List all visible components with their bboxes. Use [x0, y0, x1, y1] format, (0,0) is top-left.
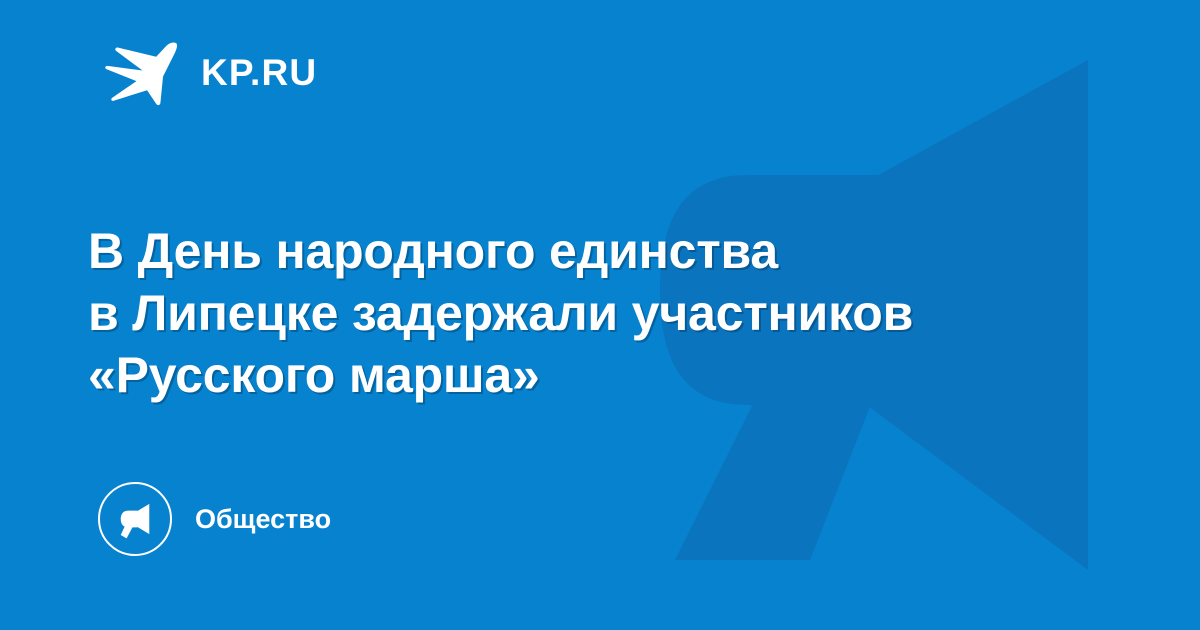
category-badge[interactable]: Общество — [98, 482, 331, 556]
swallow-bird-icon — [103, 34, 179, 110]
headline-line-1: В День народного единства — [88, 220, 1138, 282]
category-icon-circle — [98, 482, 172, 556]
headline-line-2: в Липецке задержали участников — [88, 282, 1138, 344]
brand-logo[interactable]: KP.RU — [103, 34, 317, 110]
social-share-card: KP.RU В День народного единства в Липецк… — [0, 0, 1200, 630]
headline: В День народного единства в Липецке заде… — [88, 220, 1138, 406]
headline-line-3: «Русского марша» — [88, 344, 1138, 406]
megaphone-icon — [114, 498, 156, 540]
brand-name: KP.RU — [201, 54, 317, 91]
category-label: Общество — [195, 506, 331, 533]
